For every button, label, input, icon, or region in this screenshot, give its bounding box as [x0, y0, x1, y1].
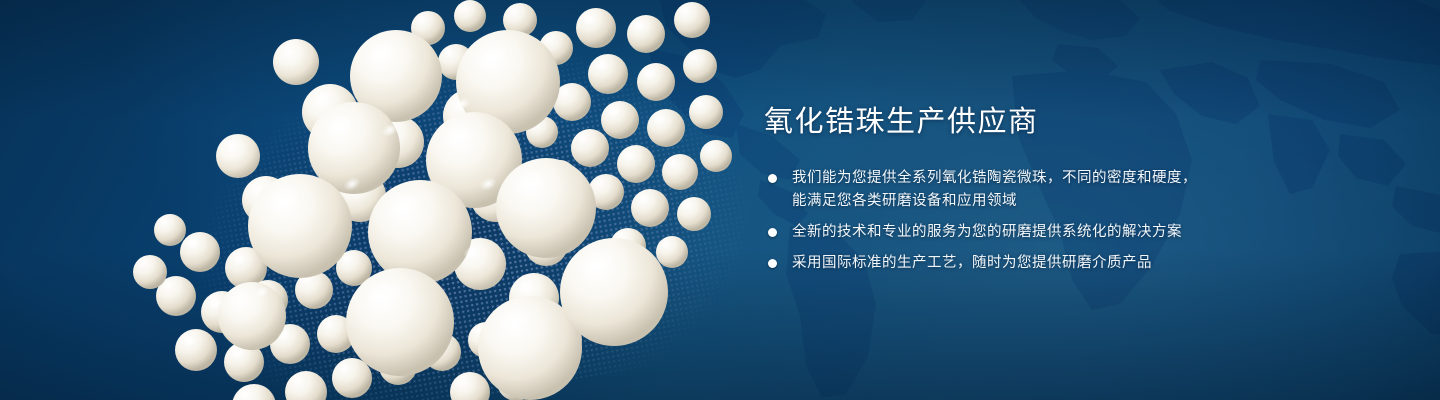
bullet-dot-icon: [768, 228, 777, 237]
bullet-text: 能满足您各类研磨设备和应用领域: [792, 189, 1362, 213]
feature-bullet-list: 我们能为您提供全系列氧化锆陶瓷微珠，不同的密度和硬度， 能满足您各类研磨设备和应…: [762, 166, 1362, 275]
banner-copy: 氧化锆珠生产供应商 我们能为您提供全系列氧化锆陶瓷微珠，不同的密度和硬度， 能满…: [762, 104, 1362, 275]
list-item: 采用国际标准的生产工艺，随时为您提供研磨介质产品: [762, 251, 1362, 275]
list-item: 我们能为您提供全系列氧化锆陶瓷微珠，不同的密度和硬度， 能满足您各类研磨设备和应…: [762, 166, 1362, 213]
bullet-dot-icon: [768, 174, 777, 183]
list-item: 全新的技术和专业的服务为您的研磨提供系统化的解决方案: [762, 220, 1362, 244]
bullet-text: 我们能为您提供全系列氧化锆陶瓷微珠，不同的密度和硬度，: [792, 166, 1362, 190]
bullet-text: 采用国际标准的生产工艺，随时为您提供研磨介质产品: [792, 251, 1362, 275]
page-title: 氧化锆珠生产供应商: [764, 104, 1362, 140]
zirconia-beads-image: [0, 0, 760, 400]
bullet-text: 全新的技术和专业的服务为您的研磨提供系统化的解决方案: [792, 220, 1362, 244]
bullet-dot-icon: [768, 259, 777, 268]
hero-banner: 氧化锆珠生产供应商 我们能为您提供全系列氧化锆陶瓷微珠，不同的密度和硬度， 能满…: [0, 0, 1440, 400]
